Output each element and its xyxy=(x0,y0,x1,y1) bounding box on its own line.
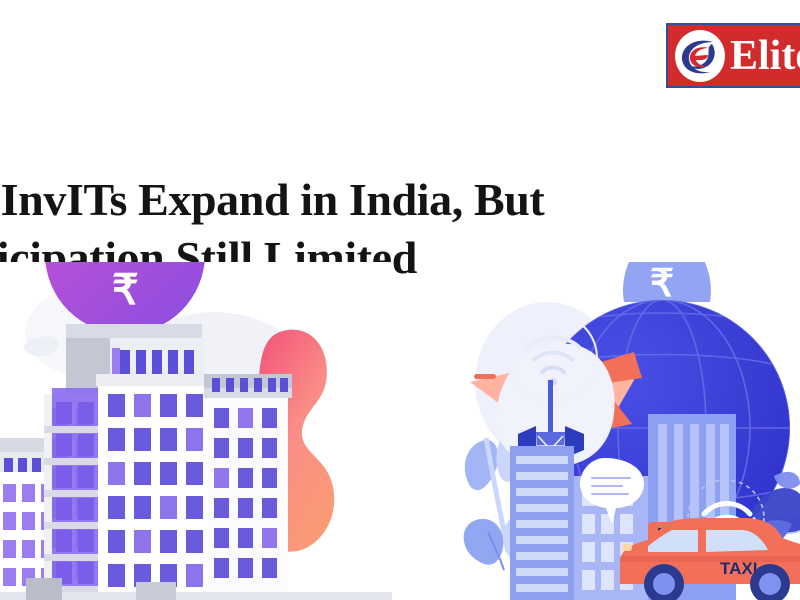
rupee-symbol-right: ₹ xyxy=(650,263,674,305)
illustration-global-connectivity-city: ₹ xyxy=(452,262,800,600)
article-header-banner: Elite s and InvITs Expand in India, But … xyxy=(0,0,800,600)
rupee-symbol-left: ₹ xyxy=(112,266,139,313)
striped-building xyxy=(510,446,574,600)
elite-logo-text: Elite xyxy=(730,35,800,77)
illustration-city-buildings-rupee: ₹ xyxy=(0,262,392,600)
headline-line-1: s and InvITs Expand in India, But xyxy=(0,171,788,229)
taxi-label: TAXI xyxy=(720,559,757,578)
elite-e-swoosh-icon xyxy=(672,28,728,84)
elite-logo-banner[interactable]: Elite xyxy=(666,23,800,88)
